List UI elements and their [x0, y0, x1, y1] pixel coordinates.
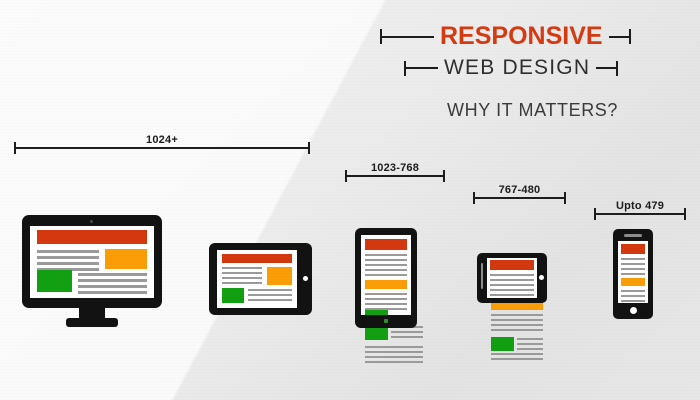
home-button-icon[interactable]: [539, 275, 544, 280]
monitor-screen: [30, 226, 154, 298]
content-red-banner: [621, 244, 645, 254]
bracket-right-icon: [609, 28, 631, 46]
content-green-box: [365, 310, 388, 315]
subtitle-text: WHY IT MATTERS?: [447, 100, 618, 121]
content-orange-box: [105, 249, 147, 269]
tablet-screen: [217, 250, 297, 308]
phone-screen: [487, 258, 537, 298]
headline-line1-text: RESPONSIVE: [434, 22, 609, 51]
speaker-icon: [624, 234, 642, 237]
content-text-lines: [78, 273, 147, 294]
content-orange-box: [621, 278, 645, 286]
monitor-stand-base: [66, 318, 118, 327]
headline-responsive: RESPONSIVE: [380, 22, 631, 51]
content-red-banner: [37, 230, 147, 244]
measure-rule-icon: [594, 208, 686, 220]
headline-line2-text: WEB DESIGN: [438, 56, 596, 80]
content-text-lines: [222, 267, 262, 284]
content-text-lines: [491, 314, 543, 331]
infographic-canvas: RESPONSIVE WEB DESIGN WHY IT MATTERS? 10…: [0, 0, 700, 400]
measure-rule-icon: [473, 192, 566, 204]
content-text-lines: [491, 353, 543, 360]
content-green-box: [222, 288, 244, 303]
content-text-lines: [248, 289, 292, 301]
device-phone-landscape: [477, 253, 563, 358]
speaker-icon: [481, 263, 483, 289]
device-tablet-portrait: [355, 228, 435, 358]
device-tablet-landscape: [209, 243, 312, 315]
bracket-left-icon: [404, 59, 438, 77]
content-text-lines: [365, 343, 423, 363]
bracket-left-icon: [380, 28, 434, 46]
headline-web-design: WEB DESIGN: [404, 56, 618, 80]
content-text-lines: [517, 338, 543, 350]
measure-rule-icon: [14, 142, 310, 154]
content-red-banner: [222, 254, 292, 263]
overflow-content-pane: [365, 324, 423, 364]
measure-bar-1024: 1024+: [14, 122, 310, 154]
home-button-icon[interactable]: [384, 319, 388, 323]
overflow-content-pane: [491, 299, 543, 357]
content-text-lines: [365, 293, 407, 310]
content-red-banner: [490, 260, 534, 270]
measure-bar-1023-768: 1023-768: [345, 150, 445, 182]
webcam-icon: [90, 220, 93, 223]
measure-bar-upto-479: Upto 479: [594, 188, 686, 220]
content-red-banner: [365, 239, 407, 250]
content-text-lines: [621, 290, 645, 302]
measure-bar-767-480: 767-480: [473, 172, 566, 204]
device-phone-portrait: [613, 229, 659, 325]
tablet-screen: [361, 235, 411, 315]
content-text-lines: [37, 250, 99, 271]
content-text-lines: [365, 254, 407, 276]
content-text-lines: [490, 274, 534, 296]
bracket-right-icon: [596, 59, 618, 77]
home-button-icon[interactable]: [630, 307, 637, 314]
home-button-icon[interactable]: [303, 276, 308, 281]
content-text-lines: [621, 258, 645, 275]
phone-screen: [618, 241, 648, 303]
content-green-box: [491, 337, 514, 351]
measure-rule-icon: [345, 170, 445, 182]
content-orange-box: [267, 267, 292, 285]
content-green-box: [37, 270, 72, 292]
device-desktop-monitor: [22, 215, 162, 330]
content-orange-box: [365, 280, 407, 289]
